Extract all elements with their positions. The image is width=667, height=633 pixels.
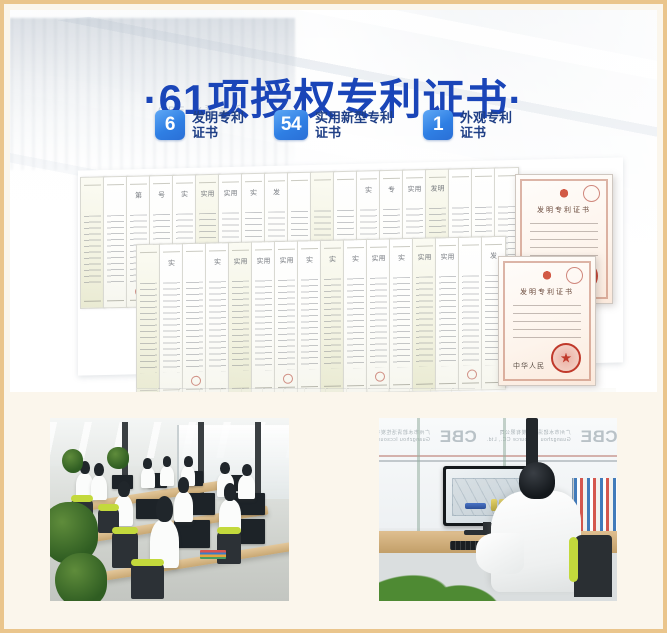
national-emblem-icon: [557, 187, 571, 201]
certificate-footer-rule: [439, 383, 456, 384]
certificate-title-glyph: 号: [150, 190, 173, 201]
certificate-display: 第号实实用实用实发实专实用发明 实实实用实用实用实实实实用实实用实用发 发明专利…: [18, 160, 649, 392]
certificate-reflection: [136, 388, 616, 392]
certificate-title-glyph: 第: [127, 190, 150, 201]
certificate-footer-rule: [393, 384, 410, 385]
certificate-signature: 中华人民: [513, 361, 545, 371]
showcase-certificate-2: 发明专利证书 中华人民: [498, 256, 596, 386]
potted-plant: [62, 449, 83, 473]
stat-count-badge: 1: [423, 110, 453, 140]
certificate-title-glyph: [137, 259, 160, 260]
certificate-body-text: [513, 305, 581, 343]
patent-certificate: [103, 176, 128, 309]
wall-branding-text: CBE 广州市水碧清活性炭有限公司 Guangzhou Iccsource CC…: [379, 422, 618, 453]
patent-stats-row: 6 发明专利 证书 54 实用新型专利 证书 1 外观专利 证书: [10, 110, 657, 140]
certificate-seal-icon: [375, 372, 385, 382]
wall-rail: [379, 460, 618, 462]
patent-certificate: 实用: [228, 242, 253, 392]
patent-certificate: 实用: [435, 237, 460, 392]
stat-design-patents: 1 外观专利 证书: [423, 110, 512, 140]
certificate-footer-rule: [416, 383, 433, 384]
office-worker: [174, 491, 193, 522]
certificate-title-glyph: 实用: [252, 256, 275, 267]
monitor: [174, 520, 210, 547]
certificate-title-glyph: 实: [390, 253, 413, 264]
certificate-footer-rule: [370, 384, 387, 385]
certificate-title-glyph: 实用: [219, 188, 242, 199]
company-name-cn: 广州市水碧清活性炭有限公司: [379, 430, 430, 436]
patent-certificate: 实用: [412, 237, 437, 392]
patent-certificate: [136, 244, 161, 392]
certificate-title-glyph: 实用: [436, 252, 459, 263]
stat-count-badge: 54: [274, 110, 308, 140]
certificate-title-glyph: [459, 251, 482, 252]
stat-utility-model-patents: 54 实用新型专利 证书: [274, 110, 393, 140]
patent-certificate: 实用: [274, 240, 299, 392]
stat-label-line2: 证书: [315, 125, 341, 140]
certificate-title-glyph: [183, 258, 206, 259]
certificate-title-glyph: 实: [242, 188, 265, 199]
certificate-title-glyph: 实: [321, 254, 344, 265]
certificate-title-glyph: 发明: [426, 184, 449, 195]
company-name-block: 广州市水碧清活性炭有限公司 Guangzhou Iccsource CC., L…: [379, 430, 430, 444]
patent-certificate: 实: [343, 239, 368, 392]
engineer-head: [519, 462, 555, 499]
certificate-title-glyph: 实用: [229, 257, 252, 268]
glass-mullion: [417, 418, 420, 531]
certificate-title-glyph: 实: [344, 254, 367, 265]
stat-label-line2: 证书: [460, 125, 486, 140]
photo-strip: 开放式办公区 工程师工位 CBE 广州市水碧清活性炭有限公司 Guangzhou…: [10, 402, 657, 617]
stat-invention-patents: 6 发明专利 证书: [155, 110, 244, 140]
stat-label: 发明专利 证书: [192, 110, 244, 140]
stat-label: 外观专利 证书: [460, 110, 512, 140]
certificate-footer-rule: [107, 300, 124, 301]
office-chair: [217, 531, 241, 564]
certificate-seal-icon: [283, 374, 293, 384]
top-seal-icon: [583, 185, 600, 202]
office-chair: [131, 563, 164, 600]
potted-plant: [55, 553, 107, 601]
patent-certificate: 实用: [251, 241, 276, 392]
wall-rail: [379, 455, 618, 457]
patent-certificate: [182, 243, 207, 392]
certificate-title-glyph: [472, 183, 495, 184]
certificate-title-glyph: 实用: [367, 253, 390, 264]
cad-workstation-photo: CBE 广州市水碧清活性炭有限公司 Guangzhou Iccsource CC…: [379, 418, 618, 601]
stat-count-badge: 6: [155, 110, 185, 140]
certificate-title-glyph: [311, 186, 334, 187]
office-photo: 开放式办公区 工程师工位: [50, 418, 289, 601]
patent-certificate: [80, 176, 105, 309]
potted-plant: [107, 447, 128, 469]
patent-certificate: 实: [320, 239, 345, 392]
patent-certificate: 实: [159, 243, 184, 392]
patent-certificate: 实: [389, 238, 414, 392]
certificate-title-glyph: 专: [380, 185, 403, 196]
certificate-title-glyph: 实用: [196, 189, 219, 200]
certificate-title-glyph: 实用: [403, 184, 426, 195]
certificate-row-front: 实实实用实用实用实实实实用实实用实用发: [136, 236, 504, 392]
office-chair: [574, 535, 612, 597]
stat-label-line1: 发明专利: [192, 110, 244, 125]
patent-certificate: [458, 236, 483, 391]
certificate-title: 发明专利证书: [499, 287, 595, 297]
certificate-title-glyph: [334, 186, 357, 187]
certificate-title: 发明专利证书: [516, 205, 612, 215]
certificate-footer-rule: [347, 385, 364, 386]
stat-label-line1: 外观专利: [460, 110, 512, 125]
company-logo-mark: CBE: [580, 427, 617, 447]
red-official-seal-icon: [551, 343, 581, 373]
stat-label-line1: 实用新型专利: [315, 110, 393, 125]
national-emblem-icon: [540, 269, 554, 283]
certificate-title-glyph: 实: [357, 185, 380, 196]
poster-page: CBE 水碧清活 ·61项授权专利证书· 6 发明专利 证书 54 实用新型专利…: [0, 0, 667, 633]
certificate-footer-rule: [462, 382, 479, 383]
company-logo-mark: CBE: [439, 427, 476, 447]
certificate-title-glyph: [104, 191, 127, 192]
certificate-title-glyph: 实: [206, 257, 229, 268]
office-worker: [141, 467, 155, 487]
certificate-title-glyph: [288, 187, 311, 188]
certificate-seal-icon: [191, 376, 201, 386]
patent-certificate: 实: [205, 242, 230, 392]
certificate-title-glyph: 实用: [413, 252, 436, 263]
certificate-reflection-cell: [451, 388, 475, 392]
certificate-title-glyph: 实: [160, 258, 183, 269]
certificate-title-glyph: 实: [173, 189, 196, 200]
patent-certificate: 实用: [366, 238, 391, 392]
certificate-title-glyph: 发: [265, 187, 288, 198]
certificate-title-glyph: [449, 183, 472, 184]
office-worker: [160, 466, 174, 486]
hero-section: CBE 水碧清活 ·61项授权专利证书· 6 发明专利 证书 54 实用新型专利…: [10, 10, 657, 392]
certificate-seal-icon: [467, 369, 477, 379]
stat-label-line2: 证书: [192, 125, 218, 140]
certificate-title-glyph: [81, 191, 104, 192]
certificate-title-glyph: 实: [298, 255, 321, 266]
stacked-books: [200, 550, 226, 559]
cad-equipment-block: [465, 503, 486, 509]
company-name-en: Guangzhou Iccsource CC., Ltd.: [379, 437, 430, 443]
office-worker: [91, 475, 108, 501]
top-seal-icon: [566, 267, 583, 284]
stat-label: 实用新型专利 证书: [315, 110, 393, 140]
certificate-title-glyph: 实用: [275, 255, 298, 266]
certificate-footer-rule: [324, 386, 341, 387]
certificate-footer-rule: [84, 300, 101, 301]
office-worker: [238, 475, 255, 499]
patent-certificate: 实: [297, 240, 322, 392]
